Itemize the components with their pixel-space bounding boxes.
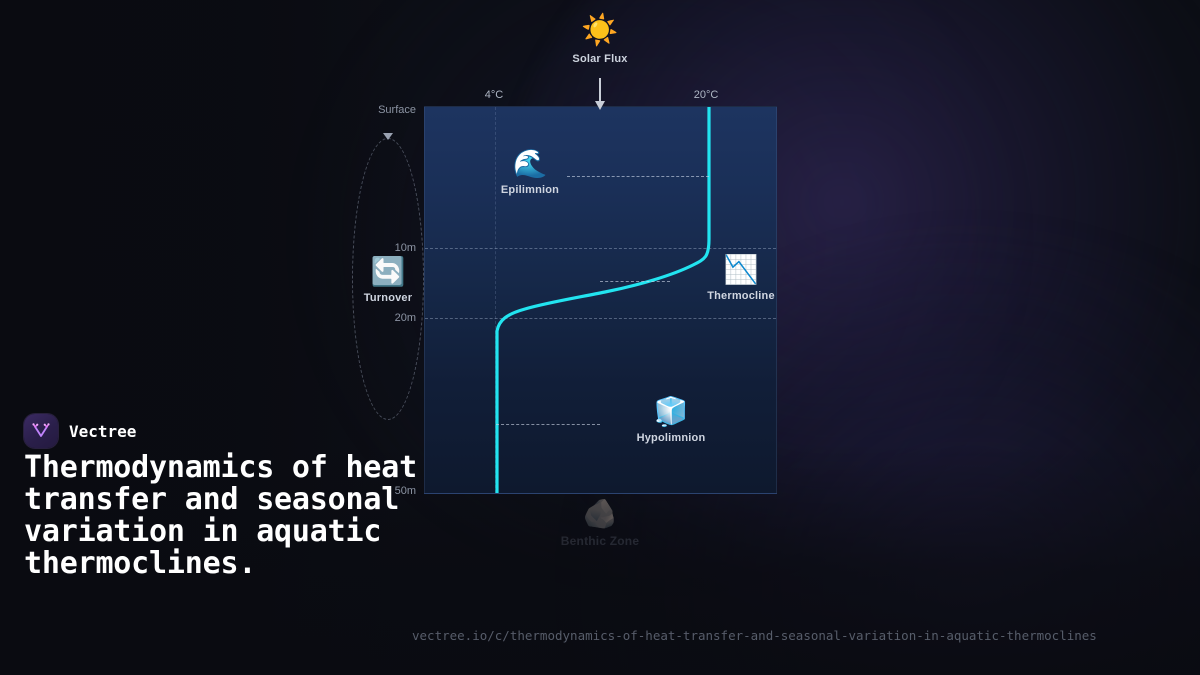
sun-icon: ☀️ bbox=[0, 14, 1200, 48]
y-tick-surface: Surface bbox=[331, 104, 416, 116]
turnover-label: Turnover bbox=[318, 292, 458, 304]
turnover-marker: 🔄 Turnover bbox=[318, 256, 458, 304]
thermocline-label: Thermocline bbox=[671, 290, 811, 302]
y-tick-10m: 10m bbox=[331, 242, 416, 254]
brand-block: Vectree bbox=[24, 414, 136, 448]
y-tick-20m: 20m bbox=[331, 312, 416, 324]
hypolimnion-marker: 🧊 Hypolimnion bbox=[601, 396, 741, 444]
solar-flux-label: Solar Flux bbox=[0, 53, 1200, 65]
vectree-logo-icon bbox=[24, 414, 58, 448]
x-tick-4c: 4°C bbox=[485, 89, 503, 101]
wave-icon: 🌊 bbox=[460, 148, 600, 180]
benthic-zone-marker: 🪨 Benthic Zone bbox=[530, 498, 670, 548]
brand-name: Vectree bbox=[69, 422, 136, 441]
hypolimnion-label: Hypolimnion bbox=[601, 432, 741, 444]
thermocline-marker: 📉 Thermocline bbox=[671, 254, 811, 302]
turnover-arrows-icon: 🔄 bbox=[318, 256, 458, 288]
rock-icon: 🪨 bbox=[530, 498, 670, 530]
vectree-logo-glyph bbox=[31, 421, 51, 441]
thermocline-leader-line bbox=[600, 281, 670, 282]
solar-flux-arrow-icon bbox=[599, 78, 601, 102]
x-tick-20c: 20°C bbox=[694, 89, 719, 101]
source-url: vectree.io/c/thermodynamics-of-heat-tran… bbox=[412, 628, 1097, 643]
benthic-zone-label: Benthic Zone bbox=[530, 534, 670, 548]
chart-decreasing-icon: 📉 bbox=[671, 254, 811, 286]
hypolimnion-leader-line bbox=[496, 424, 600, 425]
turnover-direction-arrow-icon bbox=[383, 133, 393, 140]
page-title: Thermodynamics of heat transfer and seas… bbox=[24, 452, 424, 580]
solar-flux-marker: ☀️ Solar Flux bbox=[0, 14, 1200, 65]
ice-cube-icon: 🧊 bbox=[601, 396, 741, 428]
epilimnion-label: Epilimnion bbox=[460, 184, 600, 196]
epilimnion-marker: 🌊 Epilimnion bbox=[460, 148, 600, 196]
